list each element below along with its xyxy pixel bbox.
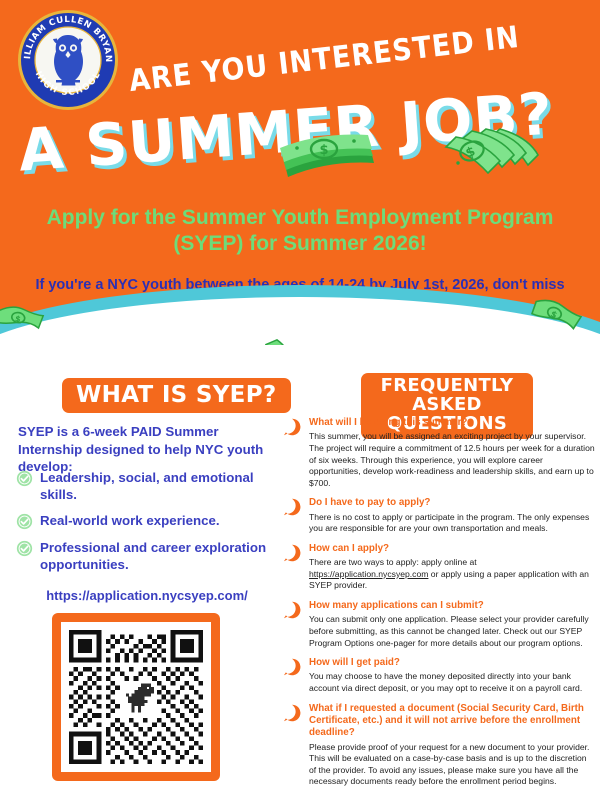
benefits-list: Leadership, social, and emotional skills… [16, 469, 284, 582]
faq-item: ? How many applications can I submit? Yo… [283, 600, 595, 649]
list-item-label: Professional and career exploration oppo… [40, 539, 284, 573]
question-bubble-icon: ? [283, 418, 301, 436]
faq-answer: Please provide proof of your request for… [309, 742, 595, 788]
check-circle-icon [16, 513, 33, 530]
application-url[interactable]: https://application.nycsyep.com/ [18, 588, 276, 603]
check-circle-icon [16, 540, 33, 557]
school-seal-logo: WILLIAM CULLEN BRYANT HIGH SCHOOL [16, 8, 120, 112]
faq-item: ? Do I have to pay to apply? There is no… [283, 497, 595, 535]
money-stack-icon: $ [276, 127, 382, 183]
question-bubble-icon: ? [283, 658, 301, 676]
list-item: Professional and career exploration oppo… [16, 539, 284, 573]
question-bubble-icon: ? [283, 498, 301, 516]
faq-question: How can I apply? [309, 543, 595, 555]
faq-list: ? What will I be doing this summer? This… [283, 417, 595, 796]
list-item: Real-world work experience. [16, 512, 284, 530]
svg-text:?: ? [289, 661, 295, 674]
faq-answer: There are two ways to apply: apply onlin… [309, 557, 595, 592]
svg-text:?: ? [289, 706, 295, 719]
faq-answer-pre: There are two ways to apply: apply onlin… [309, 557, 477, 567]
faq-question: How many applications can I submit? [309, 600, 595, 612]
faq-answer: This summer, you will be assigned an exc… [309, 431, 595, 489]
faq-question: How will I get paid? [309, 657, 595, 669]
money-fan-icon: $ [442, 125, 542, 187]
poster-body: WHAT IS SYEP? FREQUENTLY ASKED QUESTIONS… [0, 345, 600, 800]
faq-item: ? What will I be doing this summer? This… [283, 417, 595, 489]
poster-header: WILLIAM CULLEN BRYANT HIGH SCHOOL [0, 0, 600, 345]
faq-answer-link[interactable]: https://application.nycsyep.com [309, 569, 428, 579]
check-circle-icon [16, 470, 33, 487]
faq-answer: There is no cost to apply or participate… [309, 512, 595, 535]
faq-answer: You can submit only one application. Ple… [309, 614, 595, 649]
faq-answer: You may choose to have the money deposit… [309, 671, 595, 694]
svg-text:?: ? [289, 421, 295, 434]
question-bubble-icon: ? [283, 704, 301, 722]
svg-text:$: $ [319, 143, 328, 158]
question-bubble-icon: ? [283, 544, 301, 562]
subheadline: Apply for the Summer Youth Employment Pr… [40, 205, 560, 256]
svg-text:?: ? [289, 501, 295, 514]
qr-code-image [61, 622, 211, 772]
faq-item: ? How can I apply? There are two ways to… [283, 543, 595, 592]
svg-text:?: ? [289, 604, 295, 617]
faq-item: ? How will I get paid? You may choose to… [283, 657, 595, 695]
faq-question: What if I requested a document (Social S… [309, 703, 595, 740]
faq-question: What will I be doing this summer? [309, 417, 595, 429]
list-item-label: Leadership, social, and emotional skills… [40, 469, 284, 503]
list-item: Leadership, social, and emotional skills… [16, 469, 284, 503]
list-item-label: Real-world work experience. [40, 512, 220, 529]
left-column: SYEP is a 6-week PAID Summer Internship … [0, 345, 290, 800]
qr-code[interactable] [52, 613, 220, 781]
svg-text:?: ? [289, 547, 295, 560]
question-bubble-icon: ? [283, 601, 301, 619]
syep-description: SYEP is a 6-week PAID Summer Internship … [18, 423, 276, 476]
faq-item: ? What if I requested a document (Social… [283, 703, 595, 788]
faq-question: Do I have to pay to apply? [309, 497, 595, 509]
poster-root: WILLIAM CULLEN BRYANT HIGH SCHOOL [0, 0, 600, 800]
